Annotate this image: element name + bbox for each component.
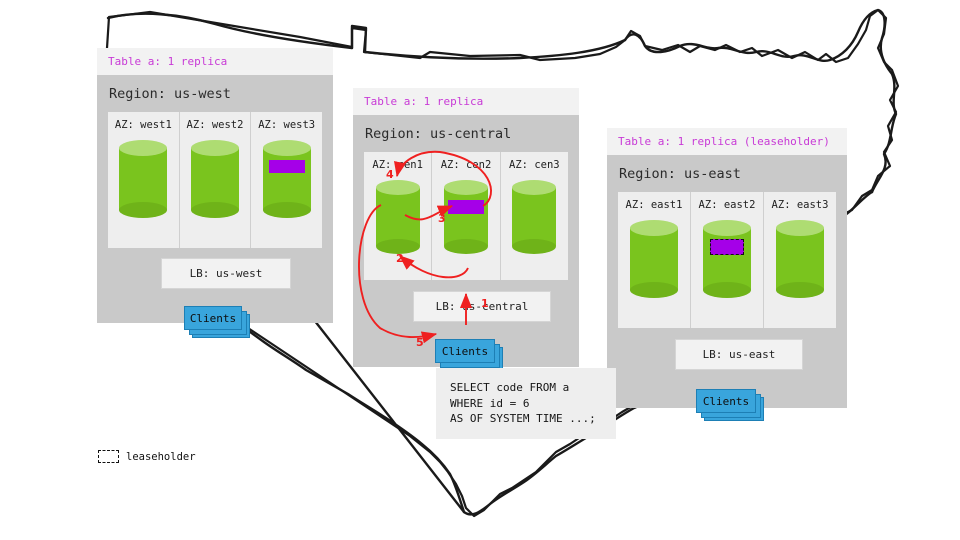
cylinder-top: [444, 180, 488, 195]
arrow-step-number-3: 3: [438, 212, 446, 225]
arrow-step-number-2: 2: [396, 252, 404, 265]
az-east2[interactable]: AZ: east2: [690, 192, 763, 328]
cylinder-body: [776, 228, 824, 290]
az-east1[interactable]: AZ: east1: [618, 192, 690, 328]
cylinder-top: [630, 220, 678, 236]
region-body-us-east: Region: us-east AZ: east1 AZ: east2: [607, 155, 847, 408]
az-label-cen3: AZ: cen3: [501, 159, 568, 171]
region-name-us-east: Region: us-east: [607, 155, 847, 192]
replica-cylinder-cen1[interactable]: [376, 180, 420, 254]
load-balancer-us-west[interactable]: LB: us-west: [161, 258, 291, 289]
replica-cylinder-east1[interactable]: [630, 220, 678, 298]
replica-cylinder-west1[interactable]: [119, 140, 167, 218]
az-label-west1: AZ: west1: [108, 119, 179, 131]
cylinder-bottom: [119, 202, 167, 218]
cylinder-body: [119, 148, 167, 210]
az-west2[interactable]: AZ: west2: [179, 112, 251, 248]
cylinder-top: [376, 180, 420, 195]
region-panel-us-west: Table a: 1 replica Region: us-west AZ: w…: [97, 48, 333, 323]
replica-cylinder-cen3[interactable]: [512, 180, 556, 254]
az-cen3[interactable]: AZ: cen3: [500, 152, 568, 280]
arrow-step-number-1: 1: [481, 297, 489, 310]
arrow-step-number-4: 4: [386, 168, 394, 181]
cylinder-top: [703, 220, 751, 236]
az-west3[interactable]: AZ: west3: [250, 112, 322, 248]
az-row-us-central: AZ: cen1 AZ: cen2: [364, 152, 568, 280]
az-west1[interactable]: AZ: west1: [108, 112, 179, 248]
cylinder-top: [119, 140, 167, 156]
az-label-west2: AZ: west2: [180, 119, 251, 131]
arrow-step-number-5: 5: [416, 336, 424, 349]
cylinder-bottom: [263, 202, 311, 218]
az-label-cen1: AZ: cen1: [364, 159, 431, 171]
region-name-us-west: Region: us-west: [97, 75, 333, 112]
range-marker-leaseholder-east2: [710, 239, 744, 255]
az-row-us-west: AZ: west1 AZ: west2 AZ: [108, 112, 322, 248]
cylinder-body: [703, 228, 751, 290]
clients-label-us-central[interactable]: Clients: [435, 339, 495, 363]
clients-label-us-east[interactable]: Clients: [696, 389, 756, 413]
az-label-cen2: AZ: cen2: [432, 159, 499, 171]
az-label-east2: AZ: east2: [691, 199, 763, 211]
replica-cylinder-east2[interactable]: [703, 220, 751, 298]
region-body-us-central: Region: us-central AZ: cen1 AZ: cen2: [353, 115, 579, 367]
region-name-us-central: Region: us-central: [353, 115, 579, 152]
clients-us-west[interactable]: Clients: [184, 306, 248, 336]
cylinder-bottom: [444, 239, 488, 254]
legend-label: leaseholder: [126, 451, 196, 463]
sql-query-box: SELECT code FROM a WHERE id = 6 AS OF SY…: [436, 368, 616, 439]
az-label-east1: AZ: east1: [618, 199, 690, 211]
cylinder-body: [191, 148, 239, 210]
cylinder-body: [263, 148, 311, 210]
leaseholder-swatch-icon: [98, 450, 119, 463]
diagram-canvas: Table a: 1 replica Region: us-west AZ: w…: [0, 0, 960, 540]
az-label-east3: AZ: east3: [764, 199, 836, 211]
clients-label-us-west[interactable]: Clients: [184, 306, 242, 330]
load-balancer-us-east[interactable]: LB: us-east: [675, 339, 803, 370]
cylinder-top: [263, 140, 311, 156]
cylinder-top: [512, 180, 556, 195]
range-marker-cen2: [448, 200, 484, 214]
az-label-west3: AZ: west3: [251, 119, 322, 131]
region-table-label-us-west: Table a: 1 replica: [97, 48, 333, 75]
az-east3[interactable]: AZ: east3: [763, 192, 836, 328]
replica-cylinder-west3[interactable]: [263, 140, 311, 218]
cylinder-body: [444, 188, 488, 246]
cylinder-body: [630, 228, 678, 290]
range-marker-west3: [269, 160, 305, 173]
cylinder-body: [376, 188, 420, 246]
cylinder-top: [776, 220, 824, 236]
region-body-us-west: Region: us-west AZ: west1 AZ: west2: [97, 75, 333, 323]
clients-us-central[interactable]: Clients: [435, 339, 501, 369]
replica-cylinder-cen2[interactable]: [444, 180, 488, 254]
cylinder-body: [512, 188, 556, 246]
cylinder-bottom: [776, 282, 824, 298]
legend: leaseholder: [98, 450, 196, 463]
replica-cylinder-west2[interactable]: [191, 140, 239, 218]
cylinder-bottom: [630, 282, 678, 298]
cylinder-top: [191, 140, 239, 156]
az-row-us-east: AZ: east1 AZ: east2: [618, 192, 836, 328]
cylinder-bottom: [191, 202, 239, 218]
region-panel-us-east: Table a: 1 replica (leaseholder) Region:…: [607, 128, 847, 408]
replica-cylinder-east3[interactable]: [776, 220, 824, 298]
clients-us-east[interactable]: Clients: [696, 389, 762, 419]
region-panel-us-central: Table a: 1 replica Region: us-central AZ…: [353, 88, 579, 367]
region-table-label-us-east: Table a: 1 replica (leaseholder): [607, 128, 847, 155]
region-table-label-us-central: Table a: 1 replica: [353, 88, 579, 115]
cylinder-bottom: [703, 282, 751, 298]
cylinder-bottom: [512, 239, 556, 254]
